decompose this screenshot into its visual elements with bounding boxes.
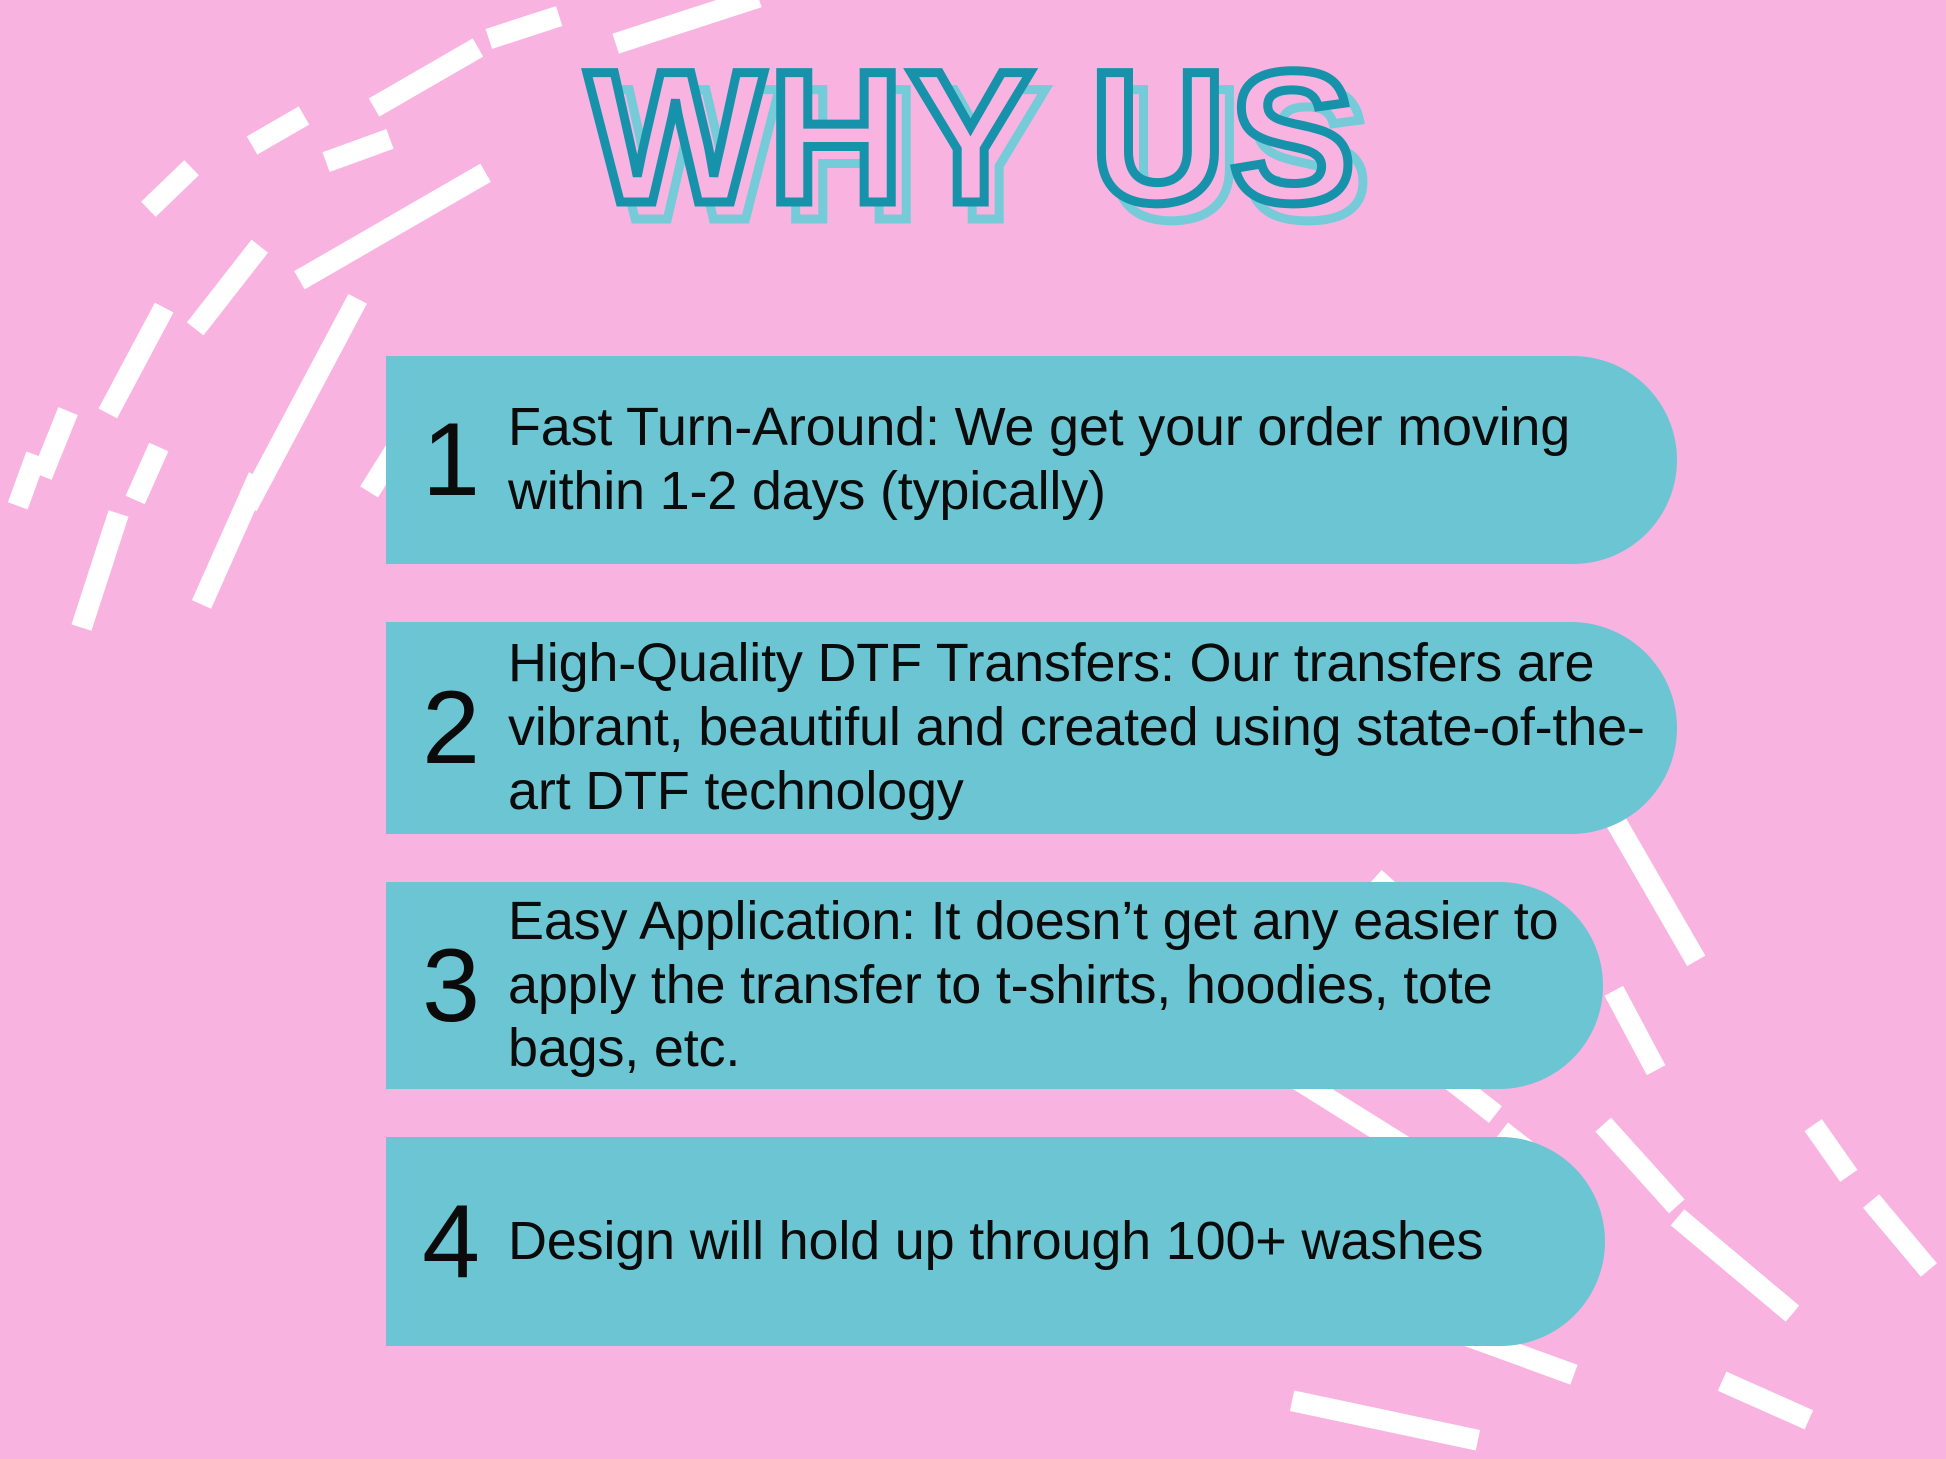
benefit-number: 3 [408, 934, 494, 1038]
title-outline-layer: WHY US [587, 42, 1360, 234]
benefit-text: Easy Application: It doesn’t get any eas… [494, 890, 1603, 1081]
benefit-text: High-Quality DTF Transfers: Our transfer… [494, 632, 1677, 823]
benefit-card: 4 Design will hold up through 100+ washe… [386, 1137, 1605, 1346]
benefit-card: 3 Easy Application: It doesn’t get any e… [386, 882, 1603, 1089]
benefit-number: 4 [408, 1190, 494, 1294]
title-stack: WHY US WHY US WHY US [587, 42, 1360, 234]
benefit-number: 1 [408, 408, 494, 512]
poster-canvas: WHY US WHY US WHY US 1 Fast Turn-Around:… [0, 0, 1946, 1459]
benefit-text: Design will hold up through 100+ washes [494, 1210, 1605, 1274]
benefit-card: 1 Fast Turn-Around: We get your order mo… [386, 356, 1677, 564]
benefit-card: 2 High-Quality DTF Transfers: Our transf… [386, 622, 1677, 834]
benefit-text: Fast Turn-Around: We get your order movi… [494, 396, 1677, 523]
benefit-number: 2 [408, 676, 494, 780]
